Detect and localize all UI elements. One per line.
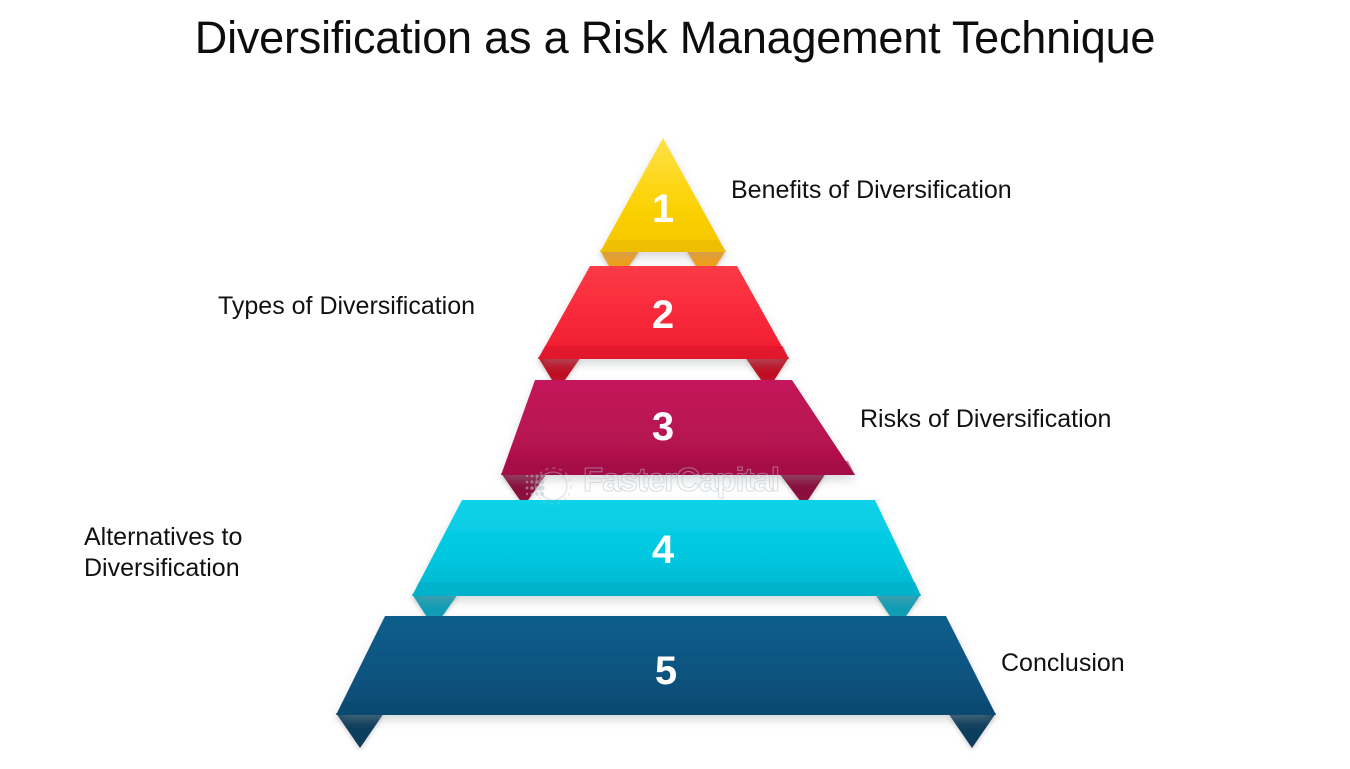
level-3-body[interactable] [501,380,855,475]
level-4-bevel [412,582,921,596]
level-3-label: Risks of Diversification [860,404,1111,435]
level-4-label: Alternatives to Diversification [84,522,242,583]
level-5-bevel [336,701,996,715]
pyramid-level-1[interactable]: 1 [600,138,726,282]
level-2-bevel [538,346,789,359]
slide-canvas: Diversification as a Risk Management Tec… [0,0,1350,769]
level-1-bevel [600,240,726,252]
pyramid-level-5[interactable]: 5 [336,616,996,748]
level-3-bevel [501,461,855,475]
pyramid-diagram: 1 2 3 4 [0,0,1350,769]
level-5-number: 5 [655,649,677,693]
level-5-tail-right [948,713,996,748]
pyramid-level-2[interactable]: 2 [538,266,789,390]
level-4-number: 4 [652,528,675,572]
level-2-label: Types of Diversification [218,291,475,322]
level-1-number: 1 [652,187,674,231]
pyramid-level-4[interactable]: 4 [412,500,921,628]
level-5-tail-left [336,713,384,748]
level-2-number: 2 [652,293,674,337]
level-5-label: Conclusion [1001,648,1125,679]
level-3-number: 3 [652,405,674,449]
level-1-label: Benefits of Diversification [731,175,1012,206]
pyramid-level-3[interactable]: 3 [501,380,855,506]
